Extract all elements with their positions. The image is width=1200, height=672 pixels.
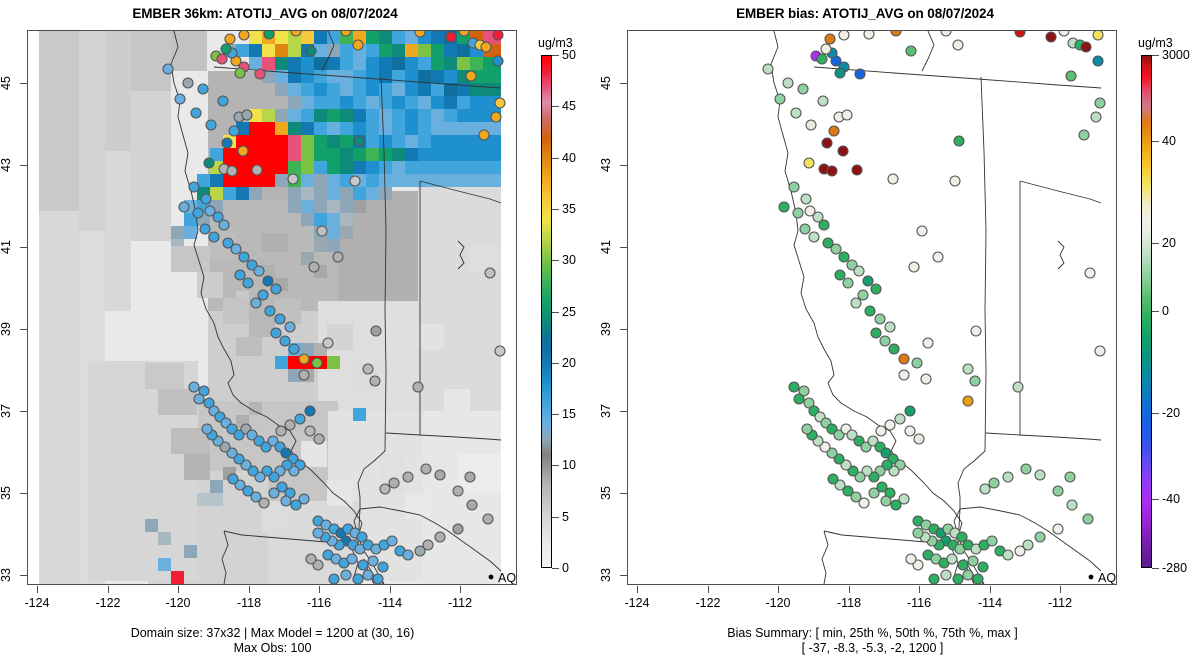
panel-bias-title: EMBER bias: ATOTIJ_AVG on 08/07/2024 <box>600 6 1130 21</box>
figure-canvas: EMBER 36km: ATOTIJ_AVG on 08/07/2024 <box>0 0 1200 672</box>
colorbar-tick-label: 40 <box>562 151 576 165</box>
model-caption-line1: Domain size: 37x32 | Max Model = 1200 at… <box>0 626 545 641</box>
aqs-legend-label-model: AQS <box>498 571 517 585</box>
colorbar-tick-label: 5 <box>562 510 569 524</box>
model-map <box>28 31 516 584</box>
ytick-label: 41 <box>0 240 13 254</box>
panel-bias-plot-area: AQS <box>627 30 1117 585</box>
model-colorbar-gradient <box>541 55 552 568</box>
colorbar-tick-label: 45 <box>562 99 576 113</box>
bias-colorbar: 3000 40 20 0 -20 -40 -280 <box>1141 55 1153 568</box>
ytick-label: 33 <box>599 568 613 582</box>
xtick-label: -114 <box>378 596 402 610</box>
ytick-label: 41 <box>599 240 613 254</box>
panel-model-title: EMBER 36km: ATOTIJ_AVG on 08/07/2024 <box>0 6 530 21</box>
bias-colorbar-gradient <box>1141 55 1152 568</box>
ytick-label: 39 <box>0 322 13 336</box>
colorbar-tick-label: 15 <box>562 407 576 421</box>
xtick-label: -120 <box>765 596 790 610</box>
ytick-label: 45 <box>599 76 613 90</box>
xtick-label: -112 <box>1048 596 1072 610</box>
colorbar-tick-label: 0 <box>562 561 569 575</box>
xtick-label: -118 <box>837 596 861 610</box>
ytick-label: 33 <box>0 568 13 582</box>
colorbar-tick-label: 25 <box>562 305 576 319</box>
xtick-label: -124 <box>624 596 649 610</box>
colorbar-tick-label: 10 <box>562 458 576 472</box>
ytick-label: 39 <box>599 322 613 336</box>
colorbar-tick-label: 50 <box>562 48 576 62</box>
colorbar-tick-label: 40 <box>1162 134 1176 148</box>
bias-map <box>628 31 1116 584</box>
panel-model: EMBER 36km: ATOTIJ_AVG on 08/07/2024 <box>0 0 600 672</box>
colorbar-tick-label: 20 <box>562 356 576 370</box>
aqs-legend-label-bias: AQS <box>1098 571 1117 585</box>
ytick-label: 43 <box>599 158 613 172</box>
colorbar-tick-label: -280 <box>1162 561 1187 575</box>
colorbar-tick-label: 3000 <box>1162 48 1190 62</box>
model-caption-line2: Max Obs: 100 <box>0 641 545 656</box>
aqs-legend-marker <box>1089 575 1094 580</box>
ytick-label: 37 <box>0 404 13 418</box>
colorbar-tick-label: -20 <box>1162 406 1180 420</box>
ytick-label: 37 <box>599 404 613 418</box>
xtick-label: -122 <box>95 596 120 610</box>
bias-caption-line1: Bias Summary: [ min, 25th %, 50th %, 75t… <box>600 626 1145 641</box>
ytick-label: 43 <box>0 158 13 172</box>
aqs-legend-marker <box>489 575 494 580</box>
panel-model-plot-area: AQS <box>27 30 517 585</box>
model-colorbar: 50 45 40 35 30 25 20 15 10 5 0 <box>541 55 553 568</box>
ytick-label: 35 <box>599 486 613 500</box>
xtick-label: -118 <box>237 596 261 610</box>
xtick-label: -122 <box>695 596 720 610</box>
ytick-label: 35 <box>0 486 13 500</box>
colorbar-tick-label: 20 <box>1162 236 1176 250</box>
xtick-label: -116 <box>307 596 331 610</box>
colorbar-tick-label: 30 <box>562 253 576 267</box>
bias-caption-line2: [ -37, -8.3, -5.3, -2, 1200 ] <box>600 641 1145 656</box>
colorbar-tick-label: 35 <box>562 202 576 216</box>
colorbar-tick-label: 0 <box>1162 304 1169 318</box>
xtick-label: -124 <box>24 596 49 610</box>
xtick-label: -116 <box>907 596 931 610</box>
xtick-label: -120 <box>165 596 190 610</box>
panel-bias: EMBER bias: ATOTIJ_AVG on 08/07/2024 <box>600 0 1200 672</box>
xtick-label: -114 <box>978 596 1002 610</box>
xtick-label: -112 <box>448 596 472 610</box>
colorbar-tick-label: -40 <box>1162 492 1180 506</box>
ytick-label: 45 <box>0 76 13 90</box>
